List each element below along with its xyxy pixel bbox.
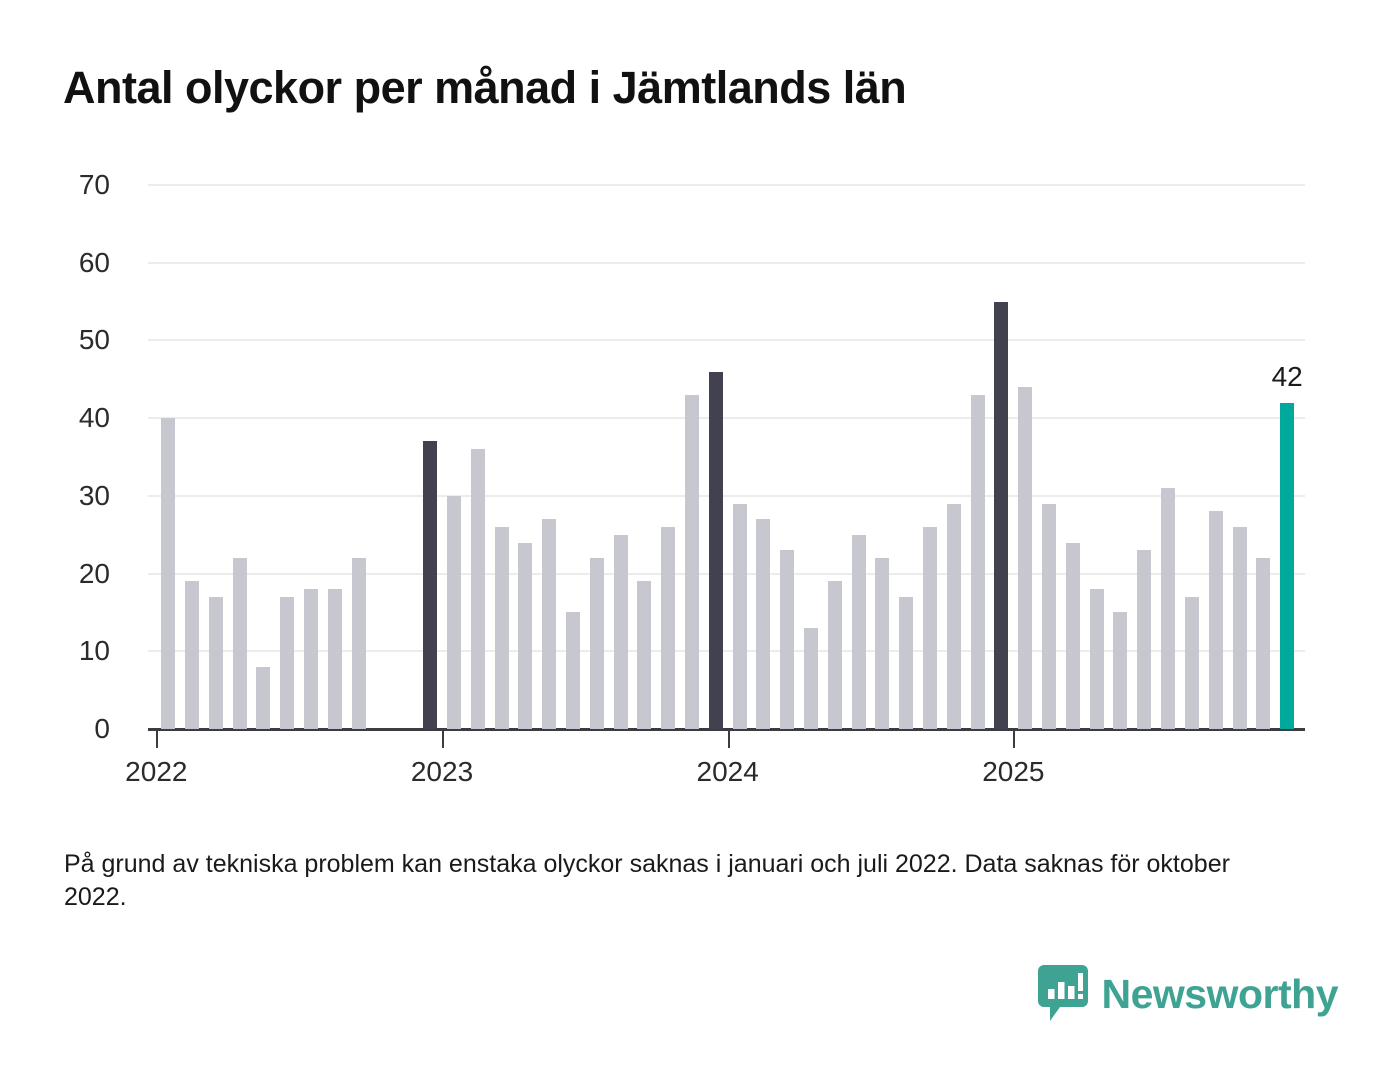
- plot-area: 010203040506070 42 2022202320242025: [0, 0, 1400, 800]
- x-axis-tick-label: 2023: [411, 756, 473, 788]
- x-axis-tick-mark: [1013, 731, 1015, 748]
- x-axis-tick-mark: [156, 731, 158, 748]
- chart-caption: På grund av tekniska problem kan enstaka…: [64, 848, 1279, 913]
- chart-page: Antal olyckor per månad i Jämtlands län …: [0, 0, 1400, 1080]
- x-axis-tick-label: 2022: [125, 756, 187, 788]
- x-axis: 2022202320242025: [0, 0, 1400, 800]
- bar-chart-speech-bubble-icon: [1038, 965, 1088, 1023]
- newsworthy-logo: Newsworthy: [1038, 965, 1339, 1023]
- x-axis-tick-mark: [442, 731, 444, 748]
- x-axis-tick-label: 2024: [697, 756, 759, 788]
- x-axis-tick-label: 2025: [982, 756, 1044, 788]
- logo-wordmark: Newsworthy: [1102, 971, 1339, 1018]
- x-axis-tick-mark: [728, 731, 730, 748]
